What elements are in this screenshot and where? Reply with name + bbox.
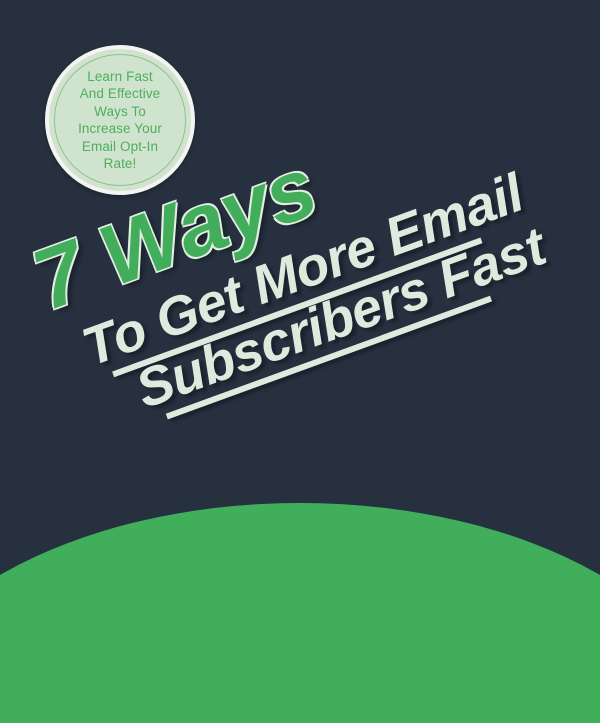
badge-line-4: Increase Your [56,120,184,138]
badge-line-2: And Effective [56,85,184,103]
badge-line-1: Learn Fast [56,68,184,86]
poster-canvas: Learn Fast And Effective Ways To Increas… [0,0,600,723]
badge-line-3: Ways To [56,103,184,121]
badge-line-5: Email Opt-In [56,138,184,156]
bottom-green-ellipse [0,503,600,723]
